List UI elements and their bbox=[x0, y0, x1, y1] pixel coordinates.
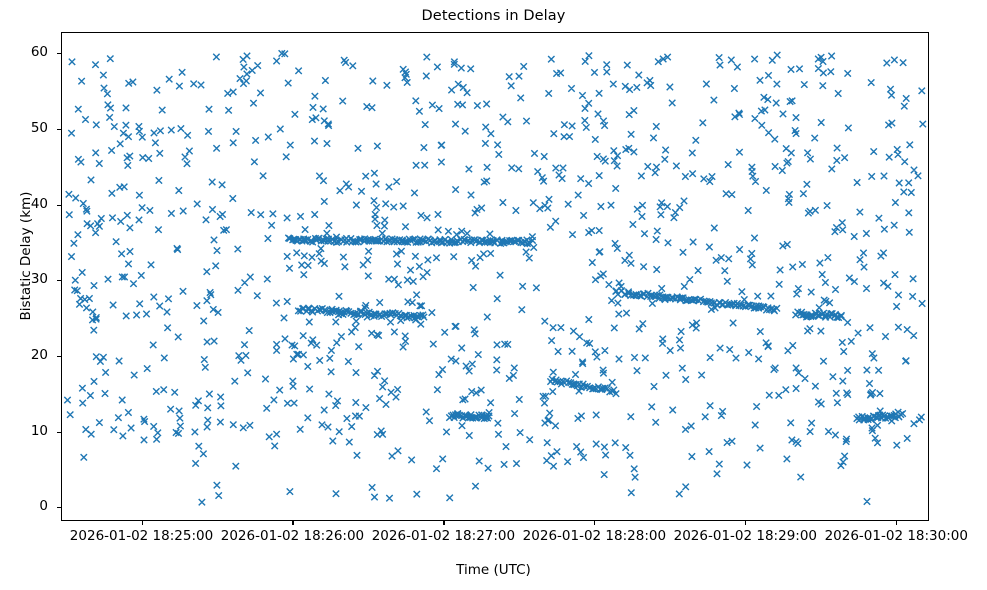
y-tick-label: 60 bbox=[0, 44, 48, 60]
scatter-points-layer bbox=[62, 33, 929, 521]
x-axis-label: Time (UTC) bbox=[0, 562, 987, 578]
y-axis-label: Bistatic Delay (km) bbox=[18, 126, 34, 386]
y-tick-mark bbox=[57, 205, 61, 206]
chart-title: Detections in Delay bbox=[0, 8, 987, 24]
y-tick-mark bbox=[57, 432, 61, 433]
x-tick-label: 2026-01-02 18:30:00 bbox=[806, 528, 986, 544]
x-tick-mark bbox=[292, 521, 293, 525]
y-tick-label: 0 bbox=[0, 498, 48, 514]
y-tick-mark bbox=[57, 53, 61, 54]
y-tick-mark bbox=[57, 280, 61, 281]
plot-area bbox=[61, 32, 929, 521]
x-tick-mark bbox=[896, 521, 897, 525]
y-tick-mark bbox=[57, 129, 61, 130]
x-tick-mark bbox=[745, 521, 746, 525]
y-tick-label: 10 bbox=[0, 423, 48, 439]
figure-canvas: Detections in Delay 0102030405060 2026-0… bbox=[0, 0, 987, 590]
x-tick-mark bbox=[443, 521, 444, 525]
x-tick-mark bbox=[594, 521, 595, 525]
x-tick-mark bbox=[142, 521, 143, 525]
y-tick-mark bbox=[57, 356, 61, 357]
y-tick-mark bbox=[57, 507, 61, 508]
scatter-marker-path bbox=[64, 50, 926, 505]
